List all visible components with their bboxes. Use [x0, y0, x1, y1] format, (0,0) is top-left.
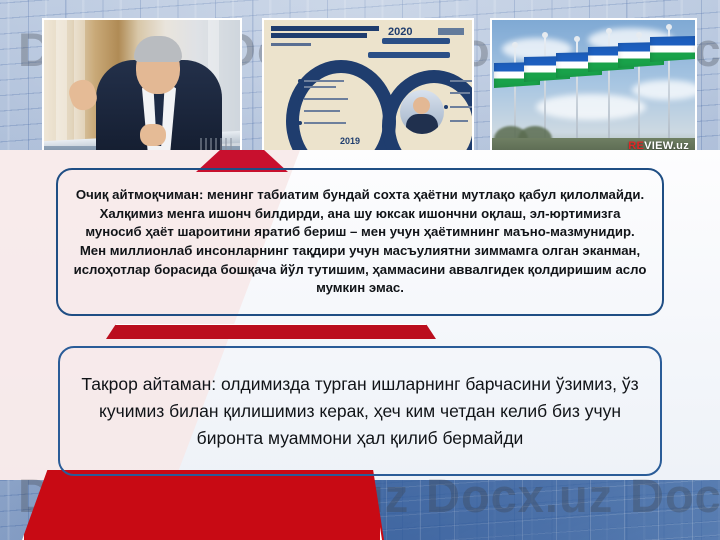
infographic-bar	[368, 52, 450, 58]
quote-box-primary: Очиқ айтмоқчиман: менинг табиатим бундай…	[56, 168, 664, 316]
infographic-bar	[382, 38, 450, 44]
uzbekistan-flag-icon	[650, 36, 696, 62]
red-accent-bottom	[22, 470, 384, 540]
quote-box-secondary: Такрор айтаман: олдимизда турган ишларни…	[58, 346, 662, 476]
infographic-text-line	[450, 106, 474, 108]
infographic-text-line	[450, 80, 472, 82]
infographic-text-line	[304, 98, 348, 100]
infographic-text-line	[304, 86, 336, 88]
cloud-shape	[536, 94, 646, 120]
infographic-subtitle-line	[271, 43, 311, 46]
photo-strip: 2020 2019	[0, 18, 720, 166]
infographic-title-line	[271, 26, 379, 31]
infographic-bullet-icon	[298, 121, 302, 125]
infographic-text-line	[450, 120, 468, 122]
slide-canvas: Docx.uz Docx.uz Docx.uz Doc Docx.uz Docx…	[0, 0, 720, 540]
watermark: Docx.uz	[426, 468, 613, 523]
infographic-text-line	[304, 110, 340, 112]
infographic-text-line	[450, 92, 470, 94]
photo-flags: REVIEW.uz	[490, 18, 697, 166]
infographic-bullet-icon	[298, 97, 302, 101]
infographic-secondary-year-label: 2019	[340, 136, 360, 146]
red-accent-divider	[106, 324, 436, 339]
infographic-portrait	[400, 90, 444, 134]
infographic-text-line	[304, 80, 344, 82]
infographic-bullet-icon	[444, 105, 448, 109]
infographic-year-label: 2020	[388, 26, 412, 38]
infographic-logo-icon	[438, 28, 464, 35]
infographic-bullet-icon	[298, 79, 302, 83]
infographic-title-line	[271, 33, 367, 38]
photo-infographic: 2020 2019	[262, 18, 474, 166]
photo-president-speaking	[42, 18, 242, 166]
watermark: Doc	[630, 468, 720, 523]
quote-text-secondary: Такрор айтаман: олдимизда турган ишларни…	[60, 371, 660, 452]
quote-text-primary: Очиқ айтмоқчиман: менинг табиатим бундай…	[58, 186, 662, 298]
infographic-bullet-icon	[444, 79, 448, 83]
lowered-hand	[140, 124, 166, 146]
infographic-text-line	[304, 122, 346, 124]
cloud-shape	[632, 80, 697, 100]
